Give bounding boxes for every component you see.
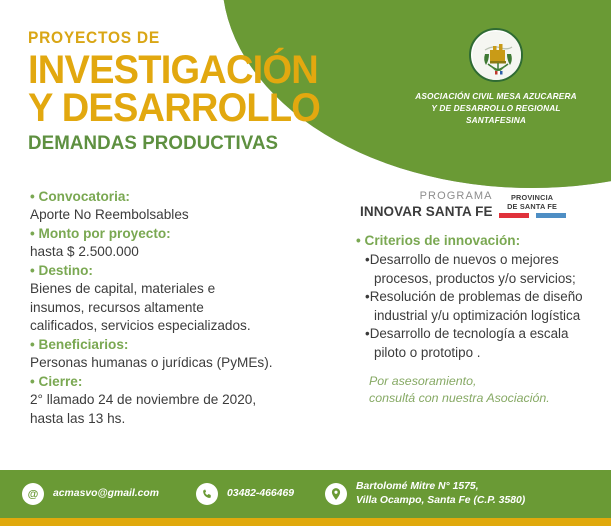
detail-label: • Cierre: [30,373,350,391]
criteria-heading: • Criterios de innovación: [356,231,604,250]
at-sign-icon: @ [22,483,44,505]
footer-phone-text: 03482-466469 [227,487,294,501]
province-line2: DE SANTA FE [499,203,566,212]
detail-value: Bienes de capital, materiales e [30,280,350,298]
header-title-line2: Y DESARROLLO [28,89,320,128]
footer-address-item[interactable]: Bartolomé Mitre N° 1575, Villa Ocampo, S… [325,480,525,507]
detail-value: Personas humanas o jurídicas (PyMEs). [30,354,350,372]
criteria-list: •Desarrollo de nuevos o mejores procesos… [356,251,604,362]
detail-label: • Destino: [30,262,350,280]
detail-value: hasta $ 2.500.000 [30,243,350,261]
association-name-line1: ASOCIACIÓN CIVIL MESA AZUCARERA [390,90,602,102]
criteria-column: • Criterios de innovación: •Desarrollo d… [356,231,604,407]
footer-phone-item[interactable]: 03482-466469 [196,483,294,505]
header-subtitle: DEMANDAS PRODUCTIVAS [28,132,323,155]
poster-canvas: PROYECTOS DE INVESTIGACIÓN Y DESARROLLO … [0,0,611,526]
sugar-mill-seal-icon [469,28,523,82]
province-bar-blue [536,213,566,218]
map-pin-icon [325,483,347,505]
province-bar-red [499,213,529,218]
advisory-line1: Por asesoramiento, [369,373,604,390]
bottom-accent-bar [0,518,611,526]
program-name: INNOVAR SANTA FE [360,204,493,220]
criteria-item: •Resolución de problemas de diseño indus… [365,288,604,325]
province-color-bars [499,213,566,218]
association-name: ASOCIACIÓN CIVIL MESA AZUCARERA Y DE DES… [390,90,602,126]
program-label: PROGRAMA [360,190,493,204]
header-kicker: PROYECTOS DE [28,30,317,47]
program-logo-text: PROGRAMA INNOVAR SANTA FE [360,190,493,219]
detail-value: insumos, recursos altamente [30,299,350,317]
association-name-line2: Y DE DESARROLLO REGIONAL [390,102,602,114]
detail-label: • Monto por proyecto: [30,225,350,243]
svg-text:@: @ [28,489,39,501]
header-title-line1: INVESTIGACIÓN [28,51,320,90]
detail-label: • Beneficiarios: [30,336,350,354]
detail-value: calificados, servicios especializados. [30,317,350,335]
detail-value: 2° llamado 24 de noviembre de 2020, [30,391,350,409]
footer-email-item[interactable]: @ acmasvo@gmail.com [22,483,159,505]
criteria-item: •Desarrollo de nuevos o mejores procesos… [365,251,604,288]
program-logo-lockup: PROGRAMA INNOVAR SANTA FE PROVINCIA DE S… [360,190,566,219]
association-name-line3: SANTAFESINA [390,114,602,126]
poster-header: PROYECTOS DE INVESTIGACIÓN Y DESARROLLO … [28,30,335,155]
footer-email-text: acmasvo@gmail.com [53,487,159,501]
province-logo: PROVINCIA DE SANTA FE [499,194,566,220]
detail-value: Aporte No Reembolsables [30,206,350,224]
contact-footer: @ acmasvo@gmail.com 03482-466469 Bartol [0,470,611,518]
footer-address-text: Bartolomé Mitre N° 1575, Villa Ocampo, S… [356,480,525,507]
advisory-line2: consultá con nuestra Asociación. [369,390,604,407]
phone-icon [196,483,218,505]
association-logo-block: ASOCIACIÓN CIVIL MESA AZUCARERA Y DE DES… [390,28,602,126]
detail-label: • Convocatoria: [30,188,350,206]
detail-value: hasta las 13 hs. [30,410,350,428]
details-column: • Convocatoria:Aporte No Reembolsables• … [30,188,350,428]
advisory-note: Por asesoramiento, consultá con nuestra … [369,373,604,407]
criteria-item: •Desarrollo de tecnología a escala pilot… [365,325,604,362]
